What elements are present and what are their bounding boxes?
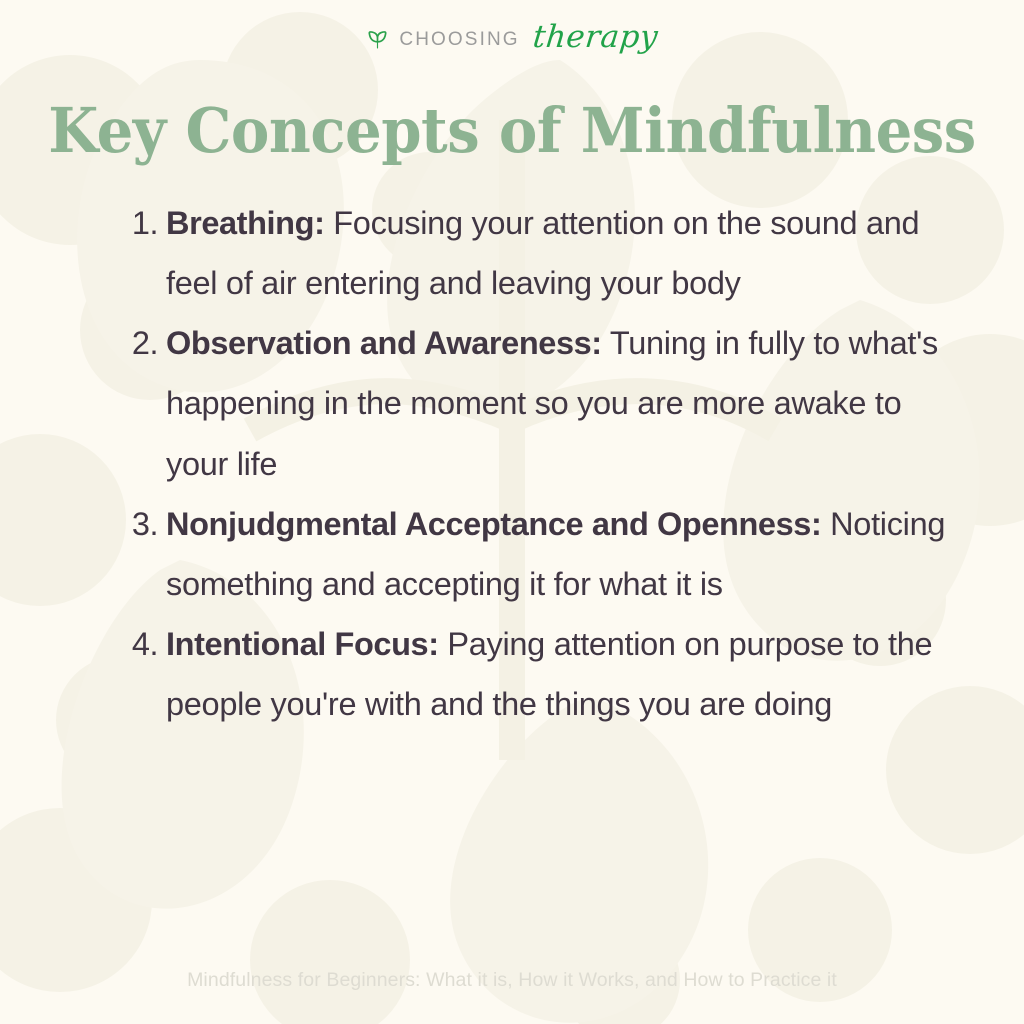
concept-list: 1. Breathing: Focusing your attention on… <box>0 193 1024 734</box>
list-item: 1. Breathing: Focusing your attention on… <box>112 193 954 313</box>
list-item-number: 1. <box>112 193 166 253</box>
brand-name-primary: CHOOSING <box>399 30 519 49</box>
list-item-body: Breathing: Focusing your attention on th… <box>166 193 954 313</box>
brand-name-script: therapy <box>531 22 659 53</box>
list-item-body: Nonjudgmental Acceptance and Openness: N… <box>166 494 954 614</box>
list-item: 2. Observation and Awareness: Tuning in … <box>112 313 954 493</box>
list-item-number: 2. <box>112 313 166 373</box>
list-item-body: Observation and Awareness: Tuning in ful… <box>166 313 954 493</box>
brand-logo: CHOOSING therapy <box>0 22 1024 56</box>
list-item-term: Breathing: <box>166 205 325 241</box>
list-item: 3. Nonjudgmental Acceptance and Openness… <box>112 494 954 614</box>
list-item: 4. Intentional Focus: Paying attention o… <box>112 614 954 734</box>
list-item-term: Nonjudgmental Acceptance and Openness: <box>166 506 821 542</box>
infographic-card: CHOOSING therapy Key Concepts of Mindful… <box>0 0 1024 1024</box>
list-item-term: Intentional Focus: <box>166 626 439 662</box>
footer-caption: Mindfulness for Beginners: What it is, H… <box>0 969 1024 992</box>
list-item-term: Observation and Awareness: <box>166 325 602 361</box>
lotus-leaf-icon <box>366 28 389 51</box>
page-title: Key Concepts of Mindfulness <box>36 98 988 163</box>
list-item-number: 4. <box>112 614 166 674</box>
list-item-number: 3. <box>112 494 166 554</box>
list-item-body: Intentional Focus: Paying attention on p… <box>166 614 954 734</box>
